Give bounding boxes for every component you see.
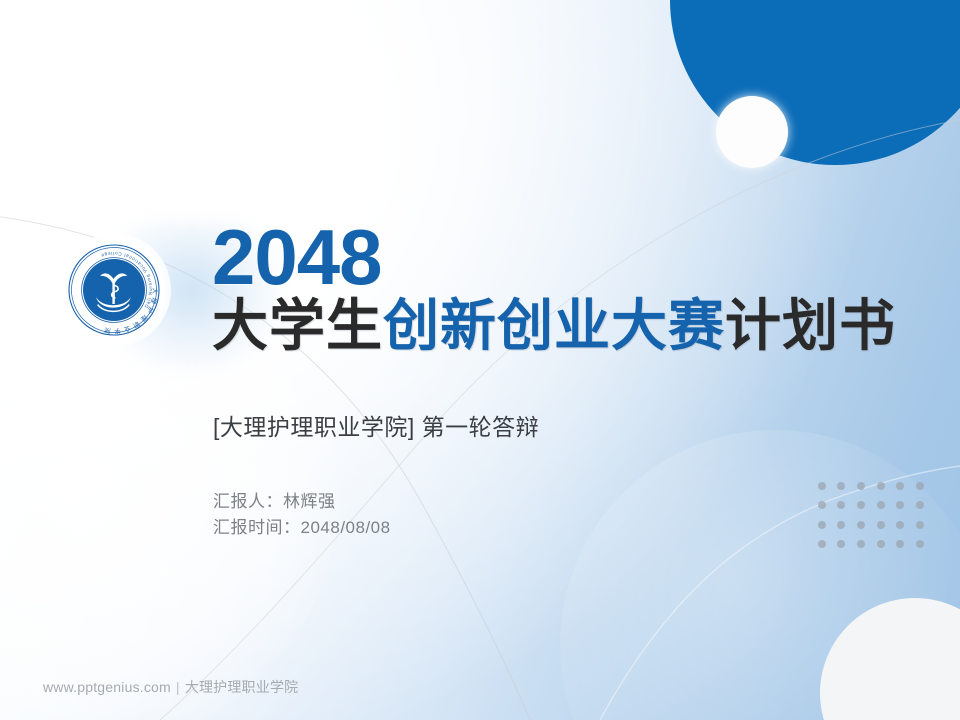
title-part-2: 创新创业大赛 bbox=[383, 294, 725, 357]
presentation-date-line: 汇报时间：2048/08/08 bbox=[213, 515, 391, 541]
footer-organization: 大理护理职业学院 bbox=[185, 679, 299, 695]
blue-circle-decoration bbox=[670, 0, 960, 165]
subtitle: [大理护理职业学院] 第一轮答辩 bbox=[213, 408, 539, 442]
bottom-soft-circle-decoration bbox=[560, 430, 960, 720]
footer: www.pptgenius.com|大理护理职业学院 bbox=[43, 677, 298, 697]
white-circle-decoration bbox=[716, 96, 788, 168]
dot-grid-decoration bbox=[812, 476, 930, 554]
bottom-white-circle-decoration bbox=[820, 598, 960, 720]
page-title: 大学生创新创业大赛计划书 bbox=[212, 296, 952, 356]
presentation-title-slide: 大理护理职业学院 Dali Nursing Vocational College… bbox=[0, 0, 960, 720]
footer-website: www.pptgenius.com bbox=[43, 679, 171, 695]
year-heading: 2048 bbox=[212, 222, 952, 294]
footer-separator: | bbox=[176, 679, 180, 695]
college-logo: 大理护理职业学院 Dali Nursing Vocational College bbox=[57, 233, 171, 347]
college-emblem-icon: 大理护理职业学院 Dali Nursing Vocational College bbox=[64, 240, 164, 340]
title-block: 2048 大学生创新创业大赛计划书 bbox=[212, 222, 952, 356]
arc-line-decoration bbox=[0, 0, 960, 720]
presenter-info: 汇报人：林辉强 汇报时间：2048/08/08 bbox=[213, 489, 391, 542]
title-part-3: 计划书 bbox=[725, 294, 896, 357]
title-part-1: 大学生 bbox=[212, 294, 383, 357]
presenter-name-line: 汇报人：林辉强 bbox=[213, 489, 391, 515]
